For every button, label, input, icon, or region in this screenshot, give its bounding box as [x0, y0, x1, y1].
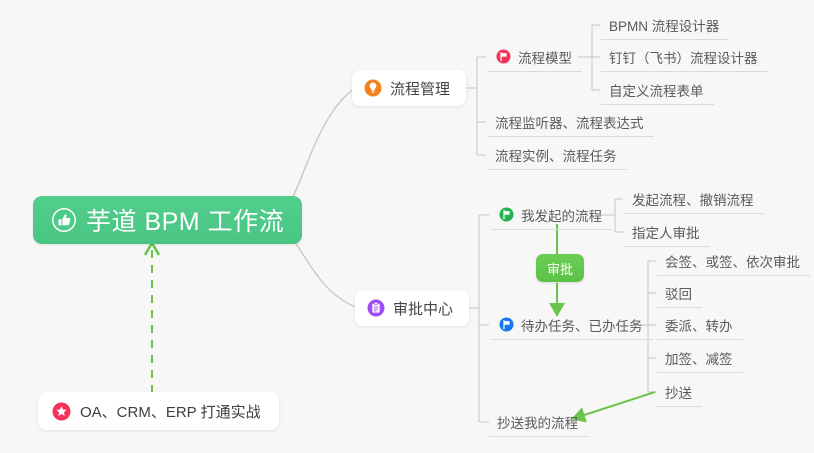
node-label: 自定义流程表单 — [609, 80, 704, 100]
footer-card-label: OA、CRM、ERP 打通实战 — [80, 401, 261, 422]
node-label: 抄送 — [665, 382, 692, 402]
node-label: 待办任务、已办任务 — [521, 315, 643, 335]
node-label: 发起流程、撤销流程 — [632, 189, 754, 209]
node-label: 我发起的流程 — [521, 205, 602, 225]
node-countersign-orsign-sequential[interactable]: 会签、或签、依次审批 — [657, 246, 810, 276]
node-listener-expression[interactable]: 流程监听器、流程表达式 — [487, 107, 654, 137]
node-custom-process-form[interactable]: 自定义流程表单 — [601, 75, 714, 105]
node-label: BPMN 流程设计器 — [609, 15, 719, 35]
node-cc-to-me-process[interactable]: 抄送我的流程 — [489, 407, 588, 437]
node-assignee-approval[interactable]: 指定人审批 — [624, 217, 710, 247]
node-process-model[interactable]: 流程模型 — [488, 42, 582, 72]
flag-icon — [499, 207, 514, 222]
branch-node-approval-center[interactable]: 审批中心 — [355, 290, 469, 326]
thumbs-up-icon — [51, 207, 77, 233]
branch-label: 审批中心 — [393, 298, 453, 319]
node-label: 钉钉（飞书）流程设计器 — [609, 47, 758, 67]
node-label: 抄送我的流程 — [497, 412, 578, 432]
node-label: 流程实例、流程任务 — [495, 145, 617, 165]
flag-icon — [496, 49, 511, 64]
node-delegate-transfer[interactable]: 委派、转办 — [657, 310, 743, 340]
node-label: 加签、减签 — [665, 348, 733, 368]
node-bpmn-designer[interactable]: BPMN 流程设计器 — [601, 10, 729, 40]
clipboard-icon — [367, 299, 385, 317]
node-label: 指定人审批 — [632, 222, 700, 242]
callout-label: 审批 — [547, 259, 573, 278]
footer-card-integration[interactable]: OA、CRM、ERP 打通实战 — [38, 392, 279, 430]
node-label: 流程监听器、流程表达式 — [495, 112, 644, 132]
flag-icon — [499, 317, 514, 332]
mindmap-canvas: 芋道 BPM 工作流 流程管理 流程模型 BPMN 流程设计器 钉钉（飞书）流程 — [0, 0, 814, 453]
lightbulb-icon — [364, 79, 382, 97]
star-icon — [52, 402, 71, 421]
node-start-cancel-process[interactable]: 发起流程、撤销流程 — [624, 184, 764, 214]
branch-node-process-management[interactable]: 流程管理 — [352, 70, 466, 106]
node-my-started-process[interactable]: 我发起的流程 — [491, 200, 612, 230]
root-label: 芋道 BPM 工作流 — [86, 202, 284, 238]
node-dingtalk-feishu-designer[interactable]: 钉钉（飞书）流程设计器 — [601, 42, 768, 72]
node-label: 驳回 — [665, 283, 692, 303]
node-label: 流程模型 — [518, 47, 572, 67]
branch-label: 流程管理 — [390, 78, 450, 99]
approval-callout[interactable]: 审批 — [536, 254, 584, 282]
node-add-remove-sign[interactable]: 加签、减签 — [657, 343, 743, 373]
node-label: 委派、转办 — [665, 315, 733, 335]
node-reject[interactable]: 驳回 — [657, 278, 702, 308]
node-todo-done-tasks[interactable]: 待办任务、已办任务 — [491, 310, 653, 340]
node-cc[interactable]: 抄送 — [657, 377, 702, 407]
node-label: 会签、或签、依次审批 — [665, 251, 800, 271]
node-instance-task[interactable]: 流程实例、流程任务 — [487, 140, 627, 170]
root-node[interactable]: 芋道 BPM 工作流 — [33, 196, 302, 244]
